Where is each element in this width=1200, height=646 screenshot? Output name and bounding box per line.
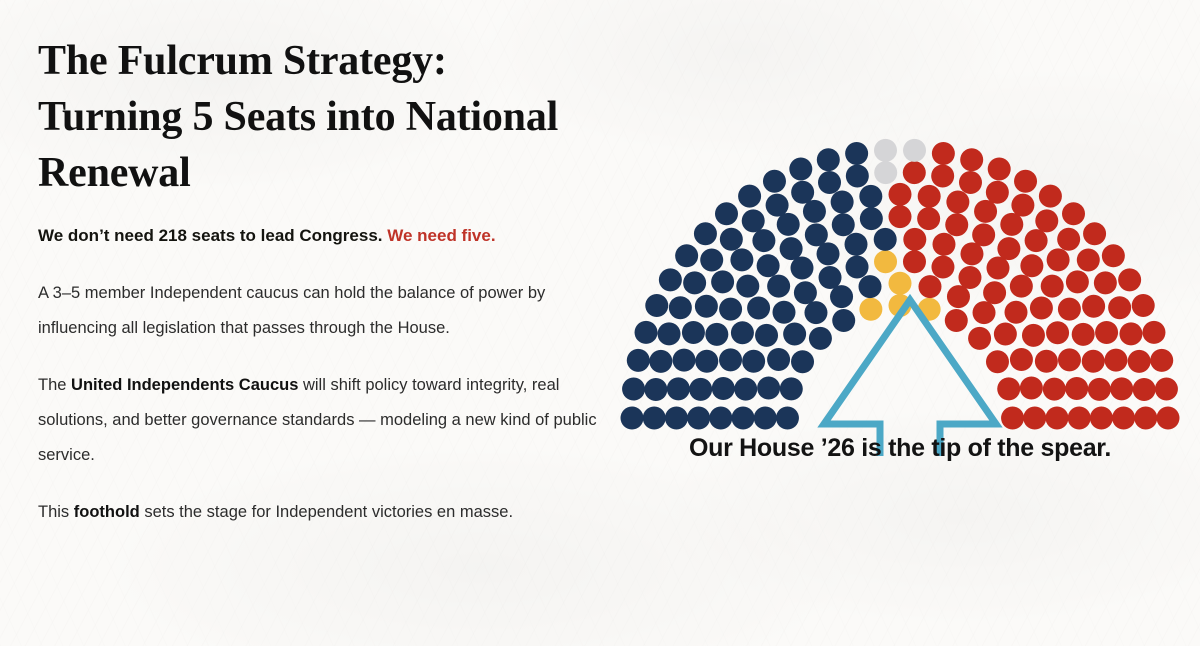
- run-text: This: [38, 503, 74, 521]
- seat-dot-red: [974, 200, 997, 223]
- seat-dot-navy: [665, 407, 688, 430]
- seat-dot-navy: [846, 256, 869, 279]
- seat-dot-red: [983, 281, 1006, 304]
- deck-line: We don’t need 218 seats to lead Congress…: [38, 224, 598, 249]
- seat-dot-navy: [845, 142, 868, 165]
- seat-dot-red: [1058, 298, 1081, 321]
- seat-dot-red: [986, 181, 1009, 204]
- seat-dot-navy: [682, 321, 705, 344]
- seat-dot-navy: [742, 350, 765, 373]
- seat-dot-navy: [766, 194, 789, 217]
- seat-dot-navy: [694, 222, 717, 245]
- deck-accent: We need five.: [387, 226, 495, 245]
- seat-dot-red: [1057, 228, 1080, 251]
- seat-dot-red: [960, 148, 983, 171]
- seat-dot-navy: [667, 377, 690, 400]
- seat-dot-navy: [742, 209, 765, 232]
- seat-dot-navy: [791, 257, 814, 280]
- seat-dot-red: [1000, 213, 1023, 236]
- seat-dot-red: [1077, 249, 1100, 272]
- page-title: The Fulcrum Strategy: Turning 5 Seats in…: [38, 34, 598, 202]
- seat-dot-navy: [817, 148, 840, 171]
- seat-dot-navy: [730, 248, 753, 271]
- seat-dot-red: [986, 350, 1009, 373]
- seat-dot-red: [1104, 349, 1127, 372]
- seat-dot-navy: [777, 213, 800, 236]
- seat-dot-gray: [874, 161, 897, 184]
- seat-dot-red: [1112, 407, 1135, 430]
- emphasis-text: United Independents Caucus: [71, 376, 298, 394]
- seat-dot-red: [987, 257, 1010, 280]
- seat-dot-red: [1134, 407, 1157, 430]
- seat-dot-red: [1058, 348, 1081, 371]
- seat-dot-navy: [736, 275, 759, 298]
- seat-dot-navy: [776, 407, 799, 430]
- seat-dot-red: [959, 171, 982, 194]
- seat-dot-navy: [860, 207, 883, 230]
- seat-dot-navy: [695, 350, 718, 373]
- seat-dot-navy: [773, 301, 796, 324]
- seat-dot-red: [945, 309, 968, 332]
- seat-dot-red: [1046, 321, 1069, 344]
- seat-dot-red: [972, 223, 995, 246]
- seat-dot-navy: [720, 228, 743, 251]
- paragraph-1: A 3–5 member Independent caucus can hold…: [38, 276, 598, 346]
- seat-dot-navy: [805, 223, 828, 246]
- seat-dot-red: [988, 158, 1011, 181]
- chart-caption: Our House ’26 is the tip of the spear.: [600, 434, 1200, 463]
- seat-dot-red: [1083, 222, 1106, 245]
- seat-dot-red: [1118, 268, 1141, 291]
- seat-dot-navy: [752, 229, 775, 252]
- seat-dot-navy: [783, 322, 806, 345]
- seat-dot-red: [1142, 321, 1165, 344]
- seat-dot-navy: [627, 349, 650, 372]
- seat-dot-navy: [780, 237, 803, 260]
- seat-dot-red: [1065, 377, 1088, 400]
- seat-dot-navy: [683, 271, 706, 294]
- seat-dot-navy: [687, 407, 710, 430]
- seat-dot-navy: [757, 377, 780, 400]
- seat-dot-navy: [789, 158, 812, 181]
- seat-dot-navy: [804, 301, 827, 324]
- seat-dot-gray: [903, 139, 926, 162]
- seat-dot-navy: [719, 348, 742, 371]
- seat-dot-red: [997, 237, 1020, 260]
- seat-dot-navy: [731, 321, 754, 344]
- seat-dot-red: [1030, 296, 1053, 319]
- seat-dot-red: [1011, 194, 1034, 217]
- seat-dot-red: [1035, 350, 1058, 373]
- seat-dot-red: [960, 242, 983, 265]
- run-text: A 3–5 member Independent caucus can hold…: [38, 284, 545, 337]
- seat-dot-navy: [832, 309, 855, 332]
- seat-dot-red: [1119, 322, 1142, 345]
- seat-dot-red: [968, 327, 991, 350]
- seat-dot-red: [1108, 296, 1131, 319]
- seat-dot-navy: [754, 407, 777, 430]
- seat-dot-red: [1095, 321, 1118, 344]
- seat-dot-gold: [874, 250, 897, 273]
- seat-dot-red: [1157, 407, 1180, 430]
- seat-dot-navy: [803, 200, 826, 223]
- seat-dot-red: [1133, 378, 1156, 401]
- seat-dot-red: [931, 164, 954, 187]
- seat-dot-red: [1022, 324, 1045, 347]
- seat-dot-navy: [831, 191, 854, 214]
- seat-dot-red: [1132, 294, 1155, 317]
- seat-dot-gray: [874, 139, 897, 162]
- text-column: The Fulcrum Strategy: Turning 5 Seats in…: [38, 34, 598, 552]
- seat-dot-navy: [830, 285, 853, 308]
- seat-dot-red: [931, 256, 954, 279]
- seat-dot-red: [1014, 170, 1037, 193]
- seat-dot-navy: [747, 296, 770, 319]
- seat-dot-navy: [709, 407, 732, 430]
- seat-dot-red: [1039, 185, 1062, 208]
- seat-dot-red: [903, 228, 926, 251]
- seat-dot-navy: [791, 181, 814, 204]
- seat-dot-red: [1035, 209, 1058, 232]
- seat-dot-red: [994, 322, 1017, 345]
- seat-dot-navy: [715, 202, 738, 225]
- seat-dot-red: [1047, 248, 1070, 271]
- seat-dot-navy: [763, 170, 786, 193]
- seat-dot-red: [1045, 407, 1068, 430]
- seat-dot-red: [947, 285, 970, 308]
- seat-dot-navy: [711, 270, 734, 293]
- seat-dot-red: [1025, 229, 1048, 252]
- seat-dot-red: [1043, 378, 1066, 401]
- seat-dot-navy: [738, 185, 761, 208]
- seat-dot-red: [1020, 377, 1043, 400]
- seat-dot-navy: [622, 378, 645, 401]
- seat-dot-red: [1041, 275, 1064, 298]
- seat-dot-navy: [767, 348, 790, 371]
- seat-dot-red: [1010, 275, 1033, 298]
- seat-dot-red: [945, 213, 968, 236]
- seat-dot-navy: [859, 275, 882, 298]
- seat-dot-navy: [635, 321, 658, 344]
- seat-dot-navy: [705, 323, 728, 346]
- emphasis-text: foothold: [74, 503, 140, 521]
- seat-dot-red: [1128, 350, 1151, 373]
- seat-dot-red: [1023, 407, 1046, 430]
- seat-dot-red: [1082, 295, 1105, 318]
- seat-dot-navy: [719, 298, 742, 321]
- seat-dot-navy: [845, 233, 868, 256]
- body-paragraphs: A 3–5 member Independent caucus can hold…: [38, 276, 598, 530]
- seat-dot-red: [1082, 350, 1105, 373]
- seat-dot-red: [1090, 407, 1113, 430]
- seat-dot-navy: [859, 185, 882, 208]
- seat-dot-navy: [819, 266, 842, 289]
- seat-dot-navy: [689, 378, 712, 401]
- slide-root: The Fulcrum Strategy: Turning 5 Seats in…: [0, 0, 1200, 646]
- seat-dot-navy: [649, 350, 672, 373]
- seat-dot-red: [903, 161, 926, 184]
- seat-dot-red: [1068, 407, 1091, 430]
- seat-dot-gold: [859, 298, 882, 321]
- paragraph-3: This foothold sets the stage for Indepen…: [38, 495, 598, 530]
- seat-dot-navy: [780, 377, 803, 400]
- seat-dot-red: [889, 183, 912, 206]
- seat-dot-navy: [659, 268, 682, 291]
- seat-dot-navy: [658, 322, 681, 345]
- seat-dot-navy: [700, 249, 723, 272]
- seat-dot-navy: [645, 294, 668, 317]
- seat-dot-navy: [757, 254, 780, 277]
- seat-dot-red: [1110, 377, 1133, 400]
- seat-dot-navy: [621, 407, 644, 430]
- seat-dot-navy: [643, 407, 666, 430]
- seat-dot-gold: [889, 272, 912, 295]
- seat-dot-red: [903, 250, 926, 273]
- seat-dot-navy: [644, 378, 667, 401]
- seat-dot-navy: [809, 327, 832, 350]
- seat-dot-navy: [818, 171, 841, 194]
- seat-dot-red: [973, 301, 996, 324]
- seat-dot-navy: [673, 349, 696, 372]
- seat-dot-red: [917, 207, 940, 230]
- seat-dot-navy: [817, 242, 840, 265]
- seat-dot-red: [918, 275, 941, 298]
- seat-dot-red: [1155, 378, 1178, 401]
- run-text: The: [38, 376, 71, 394]
- seat-dot-red: [1088, 378, 1111, 401]
- seat-dot-navy: [832, 213, 855, 236]
- seat-dot-navy: [874, 228, 897, 251]
- seat-dot-red: [932, 233, 955, 256]
- parliament-seating-svg: [600, 96, 1200, 456]
- seat-dot-red: [1102, 244, 1125, 267]
- seat-dots-group: [621, 139, 1180, 430]
- seat-dot-navy: [767, 275, 790, 298]
- seat-dot-red: [1062, 202, 1085, 225]
- seat-dot-navy: [794, 281, 817, 304]
- seat-dot-navy: [695, 295, 718, 318]
- seat-dot-red: [1020, 254, 1043, 277]
- seat-dot-red: [1066, 270, 1089, 293]
- seat-dot-navy: [675, 244, 698, 267]
- seat-dot-navy: [755, 324, 778, 347]
- seat-dot-navy: [791, 350, 814, 373]
- seat-dot-navy: [846, 164, 869, 187]
- seat-dot-red: [932, 142, 955, 165]
- seat-dot-red: [1150, 349, 1173, 372]
- seat-dot-red: [1094, 271, 1117, 294]
- seat-dot-navy: [669, 296, 692, 319]
- run-text: sets the stage for Independent victories…: [140, 503, 513, 521]
- deck-lead: We don’t need 218 seats to lead Congress…: [38, 226, 387, 245]
- seat-dot-red: [918, 185, 941, 208]
- seat-dot-red: [1010, 348, 1033, 371]
- seat-dot-red: [889, 205, 912, 228]
- seat-dot-navy: [734, 378, 757, 401]
- seat-dot-red: [958, 266, 981, 289]
- seat-dot-navy: [732, 407, 755, 430]
- seat-dot-red: [946, 191, 969, 214]
- seat-dot-red: [1001, 407, 1024, 430]
- seat-dot-red: [997, 377, 1020, 400]
- seat-dot-red: [1072, 323, 1095, 346]
- seat-dot-navy: [712, 377, 735, 400]
- paragraph-2: The United Independents Caucus will shif…: [38, 368, 598, 473]
- parliament-chart: Our House ’26 is the tip of the spear.: [600, 96, 1200, 516]
- seat-dot-red: [1005, 301, 1028, 324]
